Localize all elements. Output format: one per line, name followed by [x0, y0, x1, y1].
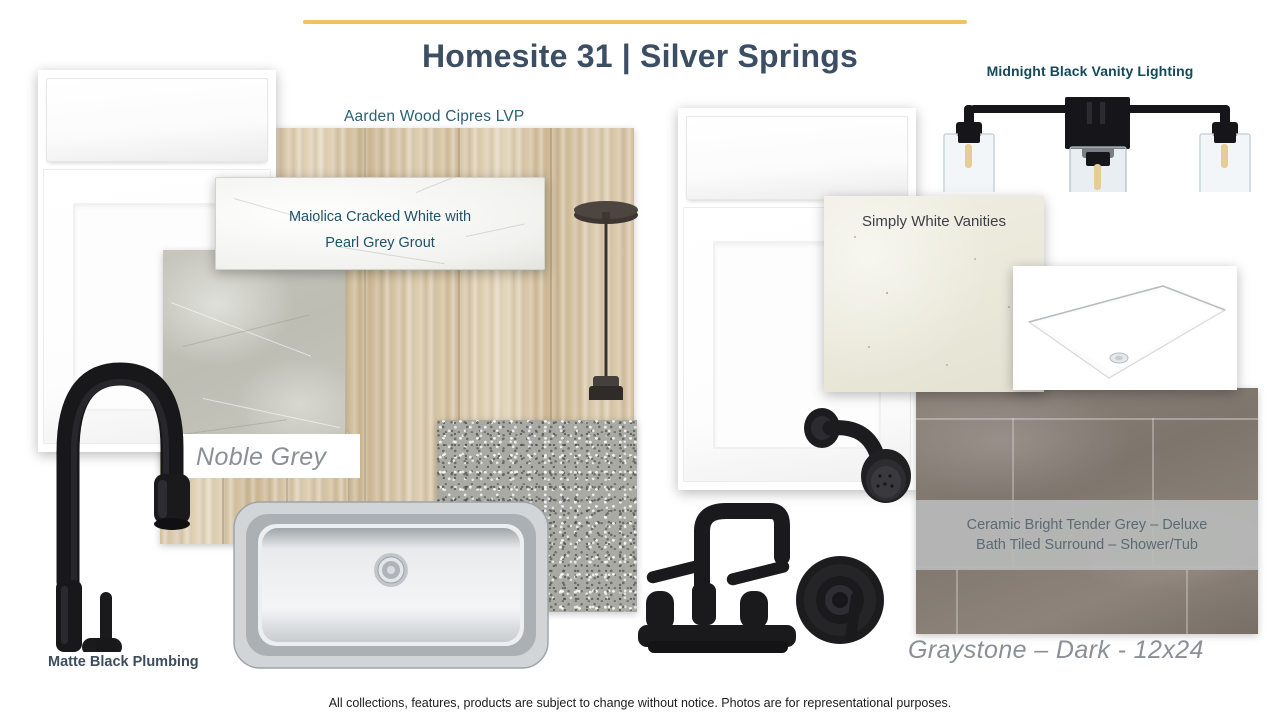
vanity-drawer-front — [686, 116, 907, 200]
vanity-top-label: Simply White Vanities — [824, 213, 1044, 230]
footer-disclaimer: All collections, features, products are … — [0, 696, 1280, 710]
shower-tile-label-line2: Bath Tiled Surround – Shower/Tub — [976, 535, 1198, 555]
shower-tile-label-line1: Ceramic Bright Tender Grey – Deluxe — [967, 515, 1208, 535]
kitchen-counter-label: Noble Grey — [196, 443, 396, 472]
lavatory-faucet — [630, 495, 810, 655]
backsplash-label-line2: Pearl Grey Grout — [215, 230, 545, 256]
floor-tile-label: Graystone – Dark - 12x24 — [908, 636, 1268, 665]
kitchen-faucet — [38, 352, 218, 652]
vanity-lighting-label: Midnight Black Vanity Lighting — [940, 63, 1240, 79]
shower-head — [800, 406, 928, 516]
vanity-light-fixture — [930, 92, 1260, 192]
title-accent-rule — [303, 20, 967, 24]
shower-tile-caption-band: Ceramic Bright Tender Grey – Deluxe Bath… — [916, 500, 1258, 570]
kitchen-sink — [232, 498, 550, 672]
cabinet-drawer-front — [46, 78, 267, 162]
design-selection-board: Homesite 31 | Silver Springs Aarden Wood… — [0, 0, 1280, 720]
backsplash-label-line1: Maiolica Cracked White with — [215, 204, 545, 230]
lav-sink-photo-card — [1013, 266, 1237, 390]
shower-valve-trim — [792, 552, 892, 652]
pendant-light-fixture — [548, 100, 668, 400]
